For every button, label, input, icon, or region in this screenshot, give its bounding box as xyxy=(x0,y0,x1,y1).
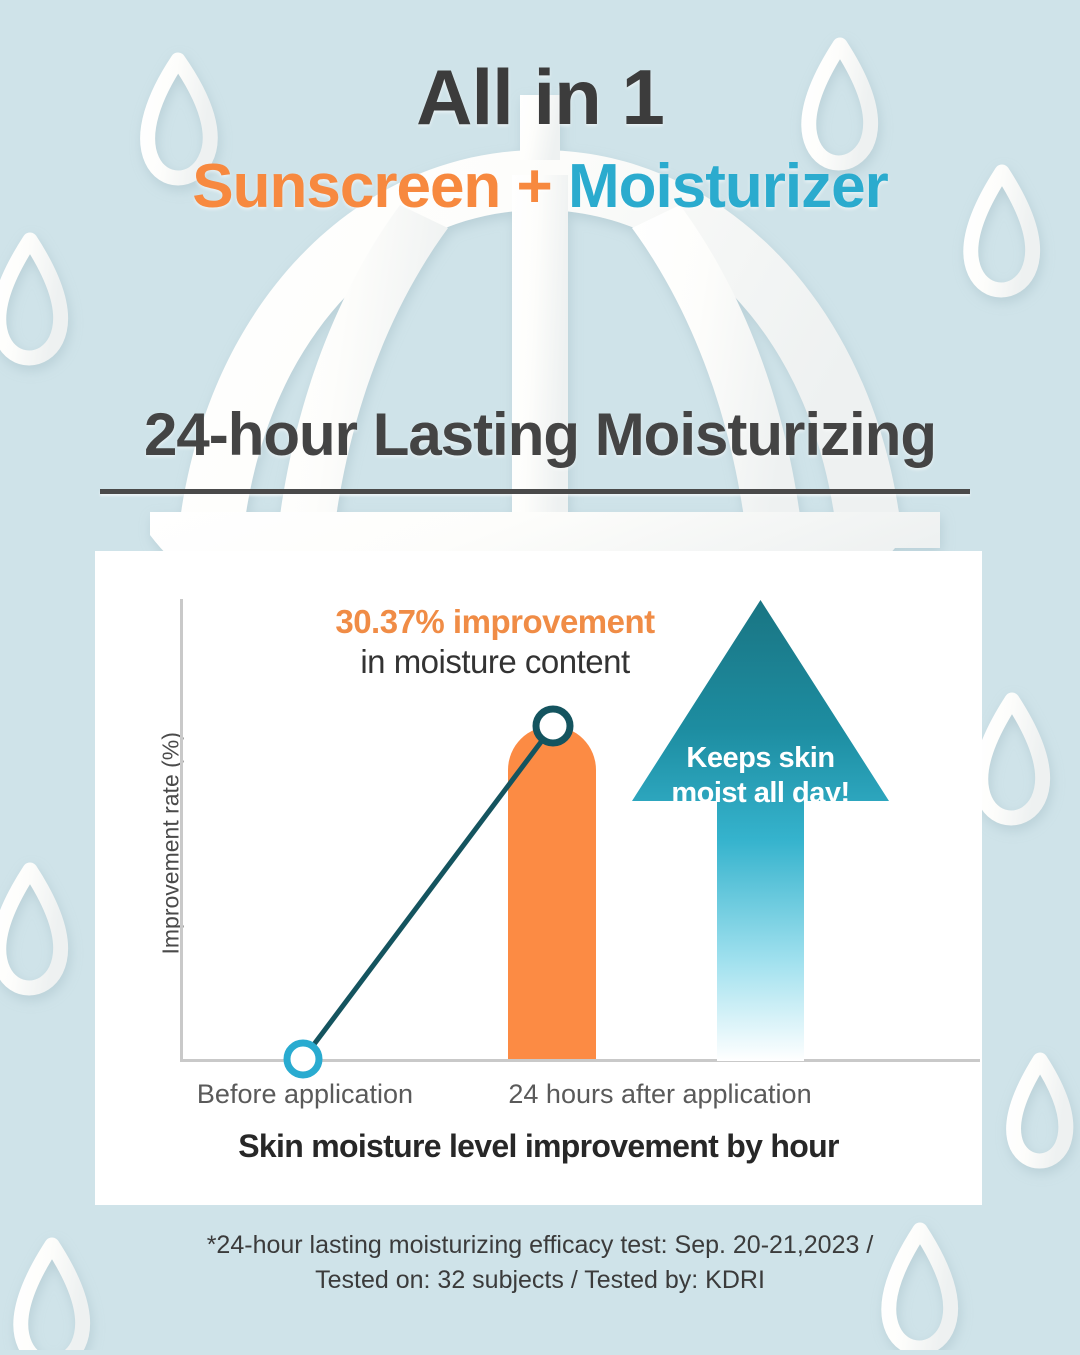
callout-description: in moisture content xyxy=(270,643,720,681)
page-subtitle: Sunscreen + Moisturizer xyxy=(0,151,1080,222)
footnote-line2: Tested on: 32 subjects / Tested by: KDRI xyxy=(0,1263,1080,1298)
subtitle-sunscreen: Sunscreen xyxy=(192,152,500,221)
headline: 24-hour Lasting Moisturizing xyxy=(0,400,1080,469)
headline-divider xyxy=(100,489,970,494)
footnote: *24-hour lasting moisturizing efficacy t… xyxy=(0,1228,1080,1297)
footnote-line1: *24-hour lasting moisturizing efficacy t… xyxy=(0,1228,1080,1263)
marker-after-application xyxy=(536,709,570,743)
subtitle-moisturizer: Moisturizer xyxy=(568,152,888,221)
chart-card: Improvement rate (%) Keeps skin moist al… xyxy=(95,551,982,1205)
improvement-callout: 30.37% improvement in moisture content xyxy=(270,603,720,681)
callout-percentage: 30.37% improvement xyxy=(270,603,720,641)
marker-before-application xyxy=(287,1043,319,1075)
chart-area: Improvement rate (%) Keeps skin moist al… xyxy=(95,551,982,1205)
trend-line xyxy=(303,726,553,1059)
subtitle-plus: + xyxy=(500,152,568,221)
page-title: All in 1 xyxy=(0,52,1080,143)
header: All in 1 Sunscreen + Moisturizer xyxy=(0,0,1080,222)
